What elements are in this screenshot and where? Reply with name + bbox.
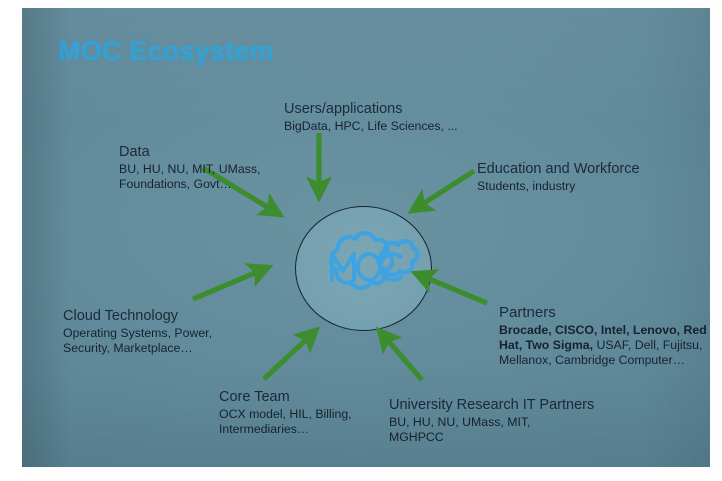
label-university-research-it-partners-heading: University Research IT Partners [389, 397, 594, 414]
page-title: MOC Ecosystem [58, 36, 274, 67]
label-partners-line-2: Hat, Two Sigma, USAF, Dell, Fujitsu, [499, 338, 707, 353]
presentation-slide: MOC Ecosystem [22, 8, 710, 467]
label-partners-line-1-bold: Brocade, CISCO, Intel, Lenovo, Red [499, 323, 707, 337]
label-partners-line-2-rest: USAF, Dell, Fujitsu, [593, 338, 702, 352]
label-core-team-line-2: Intermediaries… [219, 422, 352, 437]
label-cloud-technology-line-2: Security, Marketplace… [63, 341, 212, 356]
label-cloud-technology: Cloud Technology Operating Systems, Powe… [63, 308, 212, 356]
label-partners-line-3: Mellanox, Cambridge Computer… [499, 353, 707, 368]
label-core-team-heading: Core Team [219, 389, 352, 406]
label-partners-line-1: Brocade, CISCO, Intel, Lenovo, Red [499, 323, 707, 338]
label-users-applications-heading: Users/applications [284, 101, 458, 118]
label-users-applications: Users/applications BigData, HPC, Life Sc… [284, 101, 458, 134]
label-education-workforce-line-1: Students, industry [477, 179, 640, 194]
label-users-applications-line-1: BigData, HPC, Life Sciences, ... [284, 119, 458, 134]
label-university-research-it-partners-line-2: MGHPCC [389, 430, 594, 445]
label-partners-heading: Partners [499, 304, 707, 322]
photo-left-margin [0, 0, 24, 481]
label-education-workforce: Education and Workforce Students, indust… [477, 161, 640, 194]
slide-photograph: MOC Ecosystem [0, 0, 722, 481]
label-cloud-technology-line-1: Operating Systems, Power, [63, 326, 212, 341]
label-core-team: Core Team OCX model, HIL, Billing, Inter… [219, 389, 352, 437]
label-core-team-line-1: OCX model, HIL, Billing, [219, 407, 352, 422]
arrow-university-in [384, 336, 422, 380]
label-data-line-1: BU, HU, NU, MIT, UMass, [119, 162, 260, 177]
label-cloud-technology-heading: Cloud Technology [63, 308, 212, 325]
label-data-heading: Data [119, 144, 260, 161]
label-data: Data BU, HU, NU, MIT, UMass, Foundations… [119, 144, 260, 192]
arrow-cloud-in [193, 270, 262, 299]
label-data-line-2: Foundations, Govt… [119, 177, 260, 192]
label-university-research-it-partners: University Research IT Partners BU, HU, … [389, 397, 594, 445]
label-partners: Partners Brocade, CISCO, Intel, Lenovo, … [499, 304, 707, 367]
label-university-research-it-partners-line-1: BU, HU, NU, UMass, MIT, [389, 415, 594, 430]
arrow-partners-in [422, 276, 487, 303]
label-education-workforce-heading: Education and Workforce [477, 161, 640, 178]
label-partners-line-2-bold: Hat, Two Sigma, [499, 338, 593, 352]
arrow-education-in [418, 171, 474, 207]
arrow-coreteam-in [264, 335, 311, 379]
moc-cloud-logo [308, 227, 420, 309]
